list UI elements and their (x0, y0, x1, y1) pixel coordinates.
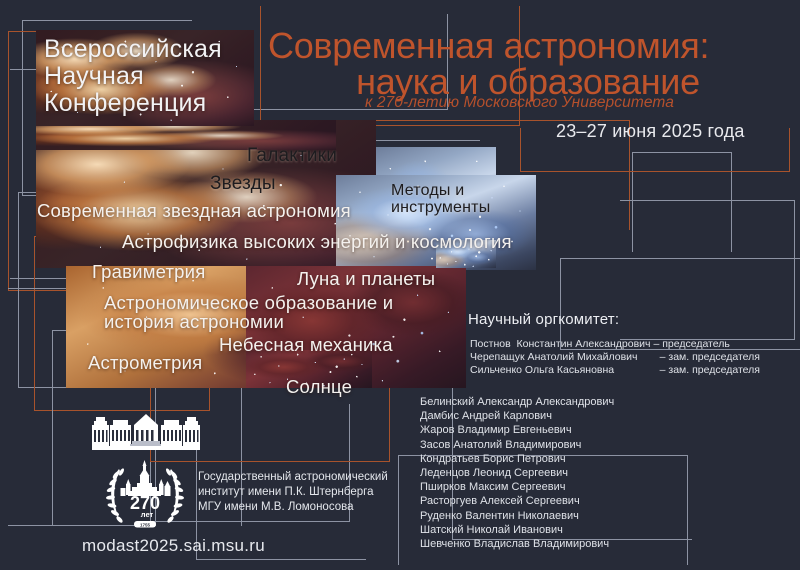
topic-astronomy-education: Астрономическое образование и история ас… (104, 293, 434, 331)
institute-line-3: МГУ имени М.В. Ломоносова (198, 500, 388, 515)
committee-member-row: Леденцов Леонид Сергеевич (420, 466, 614, 480)
topic-moon-and-planets: Луна и планеты (297, 268, 435, 290)
subtitle: к 270-летию Московского Университета (365, 94, 674, 112)
committee-member-row: Дамбис Андрей Карлович (420, 409, 614, 423)
topic-gravimetry: Гравиметрия (92, 261, 205, 283)
topic-astrometry: Астрометрия (88, 352, 202, 374)
committee-member-row: Засов Анатолий Владимирович (420, 438, 614, 452)
conference-poster: Всероссийская Научная Конференция Соврем… (0, 0, 800, 570)
institute-line-2: институт имени П.К. Штернберга (198, 485, 388, 500)
conference-name: Всероссийская Научная Конференция (44, 36, 222, 117)
topic-high-energy-astrophysics: Астрофизика высоких энергий и космология (122, 231, 512, 253)
committee-member-row: Кондратьев Борис Петрович (420, 452, 614, 466)
topic-galaxies: Галактики (247, 145, 337, 167)
committee-member-row: Шатский Николай Иванович (420, 523, 614, 537)
committee-member-row: Белинский Александр Александрович (420, 395, 614, 409)
committee-members-list: Белинский Александр Александрович Дамбис… (420, 395, 614, 551)
institute-name: Государственный астрономический институт… (198, 470, 388, 515)
page-title: Современная астрономия: наука и образова… (268, 28, 788, 100)
committee-chairs-list: Постнов Константин Александрович – предс… (470, 338, 760, 377)
committee-chair-row: Сильченко Ольга Касьяновна – зам. предсе… (470, 364, 760, 377)
committee-heading: Научный оргкомитет: (468, 311, 619, 328)
committee-chair-row: Постнов Константин Александрович – предс… (470, 338, 760, 351)
committee-member-row: Расторгуев Алексей Сергеевич (420, 494, 614, 508)
conference-dates: 23–27 июня 2025 года (556, 121, 745, 142)
topic-sun: Солнце (286, 376, 352, 398)
committee-chair-row: Черепащук Анатолий Михайлович – зам. пре… (470, 351, 760, 364)
committee-member-row: Жаров Владимир Евгеньевич (420, 423, 614, 437)
msu-anniversary-emblem: 270 лет 1755 (104, 456, 186, 532)
svg-text:лет: лет (141, 510, 154, 519)
conference-name-line-1: Всероссийская (44, 35, 222, 63)
committee-member-row: Руденко Валентин Николаевич (420, 509, 614, 523)
conference-name-line-2: Научная (44, 62, 144, 90)
svg-text:1755: 1755 (140, 522, 151, 527)
topic-methods-instruments: Методы и инструменты (391, 182, 501, 216)
committee-member-row: Пширков Максим Сергеевич (420, 480, 614, 494)
committee-member-row: Шевченко Владислав Владимирович (420, 537, 614, 551)
topic-modern-stellar-astronomy: Современная звездная астрономия (37, 200, 351, 222)
topic-celestial-mechanics: Небесная механика (219, 334, 393, 356)
topic-stars: Звезды (210, 173, 276, 195)
institute-line-1: Государственный астрономический (198, 470, 388, 485)
title-line-1: Современная астрономия: (268, 25, 709, 66)
website-url[interactable]: modast2025.sai.msu.ru (82, 536, 265, 556)
sai-observatory-building-icon (92, 410, 200, 450)
conference-name-line-3: Конференция (44, 89, 206, 117)
